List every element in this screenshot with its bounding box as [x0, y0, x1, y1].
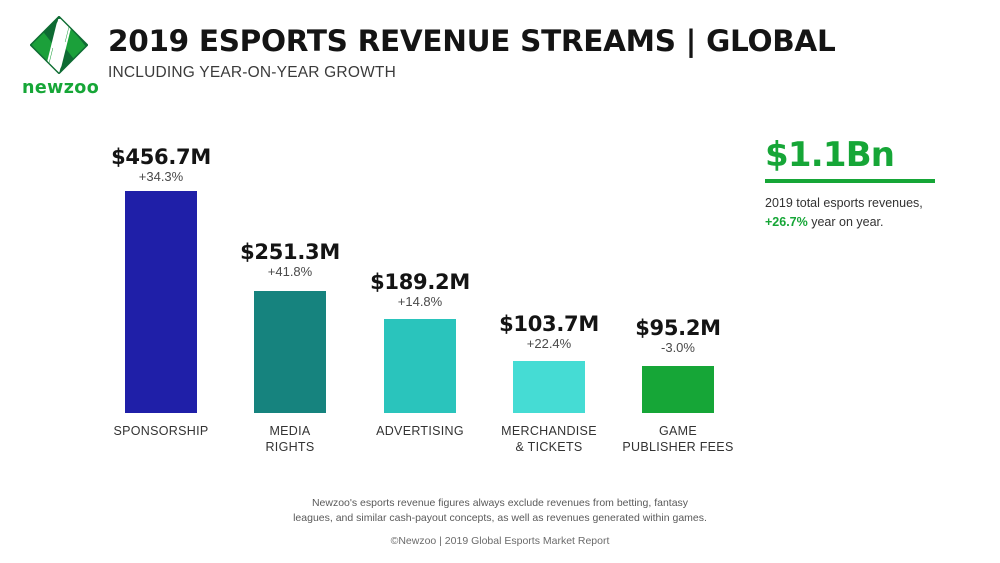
bar-rect-game-publisher-fees[interactable]	[642, 366, 714, 413]
footer: Newzoo's esports revenue figures always …	[0, 496, 1000, 547]
bar-value-game-publisher-fees: $95.2M	[578, 316, 778, 340]
total-revenue-value: $1.1Bn	[765, 136, 980, 174]
bar-growth-game-publisher-fees: -3.0%	[578, 340, 778, 355]
bar-rect-advertising[interactable]	[384, 319, 456, 413]
total-caption-line1: 2019 total esports revenues,	[765, 196, 923, 210]
bar-group-game-publisher-fees: $95.2M -3.0% GAME PUBLISHER FEES	[578, 0, 778, 470]
bar-rect-merchandise[interactable]	[513, 361, 585, 413]
footer-credit: ©Newzoo | 2019 Global Esports Market Rep…	[0, 535, 1000, 547]
bar-label-game-publisher-fees: GAME PUBLISHER FEES	[578, 423, 778, 455]
bar-chart: $456.7M +34.3% SPONSORSHIP $251.3M +41.8…	[0, 0, 760, 470]
total-divider	[765, 179, 935, 183]
total-revenue-caption: 2019 total esports revenues, +26.7% year…	[765, 194, 980, 232]
footer-disclaimer: Newzoo's esports revenue figures always …	[270, 496, 730, 526]
bar-rect-media-rights[interactable]	[254, 291, 326, 413]
total-revenue-panel: $1.1Bn 2019 total esports revenues, +26.…	[765, 136, 980, 232]
total-caption-line2: year on year.	[808, 215, 884, 229]
bar-rect-sponsorship[interactable]	[125, 191, 197, 413]
total-growth-value: +26.7%	[765, 215, 808, 229]
